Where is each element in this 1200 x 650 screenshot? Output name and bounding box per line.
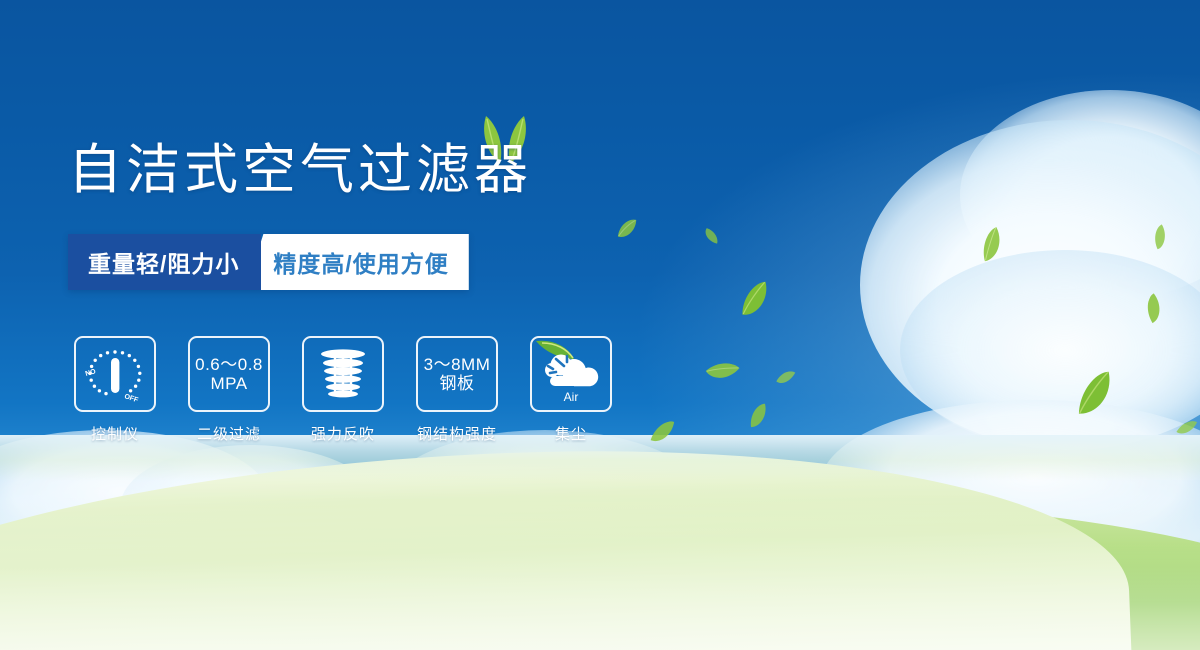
svg-text:NO: NO bbox=[85, 368, 98, 378]
feature-icon-list: NO OFF 控制仪 0.6～0.8 MPA 二级过滤 bbox=[76, 336, 610, 444]
product-hero-banner: 自洁式空气过滤器 重量轻/阻力小 精度高/使用方便 bbox=[0, 0, 1200, 650]
tagline-right-text: 精度高/使用方便 bbox=[245, 234, 468, 290]
feature-item-backblow[interactable]: 强力反吹 bbox=[304, 336, 382, 444]
cloud-right-top bbox=[960, 90, 1200, 300]
feature-item-steel[interactable]: 3～8MM 钢板 钢结构强度 bbox=[418, 336, 496, 444]
page-title: 自洁式空气过滤器 bbox=[68, 143, 532, 197]
feature-label: 控制仪 bbox=[91, 423, 139, 444]
floating-leaf-icon bbox=[701, 225, 720, 248]
floating-leaf-icon bbox=[1065, 368, 1126, 424]
floating-leaf-icon bbox=[774, 371, 798, 387]
feature-icon-box: 0.6～0.8 MPA bbox=[188, 336, 270, 412]
floating-leaf-icon bbox=[743, 401, 775, 432]
tagline-badge: 重量轻/阻力小 精度高/使用方便 bbox=[68, 234, 469, 290]
cloud-right-mid bbox=[900, 250, 1200, 450]
gauge-dial-icon: NO OFF bbox=[82, 345, 148, 403]
feature-icon-box: 3～8MM 钢板 bbox=[416, 336, 498, 412]
feature-item-dust[interactable]: Air 集尘 bbox=[532, 336, 610, 444]
floating-leaf-icon bbox=[1148, 223, 1173, 253]
feature-icon-box: NO OFF bbox=[74, 336, 156, 412]
tagline-left-text: 重量轻/阻力小 bbox=[68, 234, 261, 290]
floating-leaf-icon bbox=[973, 225, 1013, 267]
cloud-right-main bbox=[860, 120, 1200, 450]
steel-thickness-text: 3～8MM bbox=[424, 355, 491, 374]
feature-icon-box bbox=[302, 336, 384, 412]
feature-label: 钢结构强度 bbox=[417, 423, 497, 444]
steel-plate-icon: 3～8MM 钢板 bbox=[424, 355, 491, 393]
feature-label: 二级过滤 bbox=[197, 423, 261, 444]
feature-item-control-gauge[interactable]: NO OFF 控制仪 bbox=[76, 336, 154, 444]
pressure-value-icon: 0.6～0.8 MPA bbox=[195, 355, 263, 393]
floating-leaf-icon bbox=[613, 217, 643, 243]
pressure-unit-text: MPA bbox=[195, 374, 263, 393]
floating-leaf-icon bbox=[731, 278, 780, 324]
svg-text:OFF: OFF bbox=[123, 393, 139, 403]
feature-label: 强力反吹 bbox=[311, 423, 375, 444]
steel-material-text: 钢板 bbox=[424, 374, 491, 393]
air-label-text: Air bbox=[564, 390, 579, 404]
feature-label: 集尘 bbox=[555, 423, 587, 444]
coil-filter-icon bbox=[315, 345, 371, 403]
feature-icon-box: Air bbox=[530, 336, 612, 412]
grass-field bbox=[0, 435, 1200, 650]
floating-leaf-icon bbox=[703, 358, 741, 386]
floating-leaf-icon bbox=[1141, 292, 1169, 327]
cloud-air-icon: Air bbox=[534, 339, 608, 407]
pressure-range-text: 0.6～0.8 bbox=[195, 355, 263, 374]
feature-item-pressure[interactable]: 0.6～0.8 MPA 二级过滤 bbox=[190, 336, 268, 444]
